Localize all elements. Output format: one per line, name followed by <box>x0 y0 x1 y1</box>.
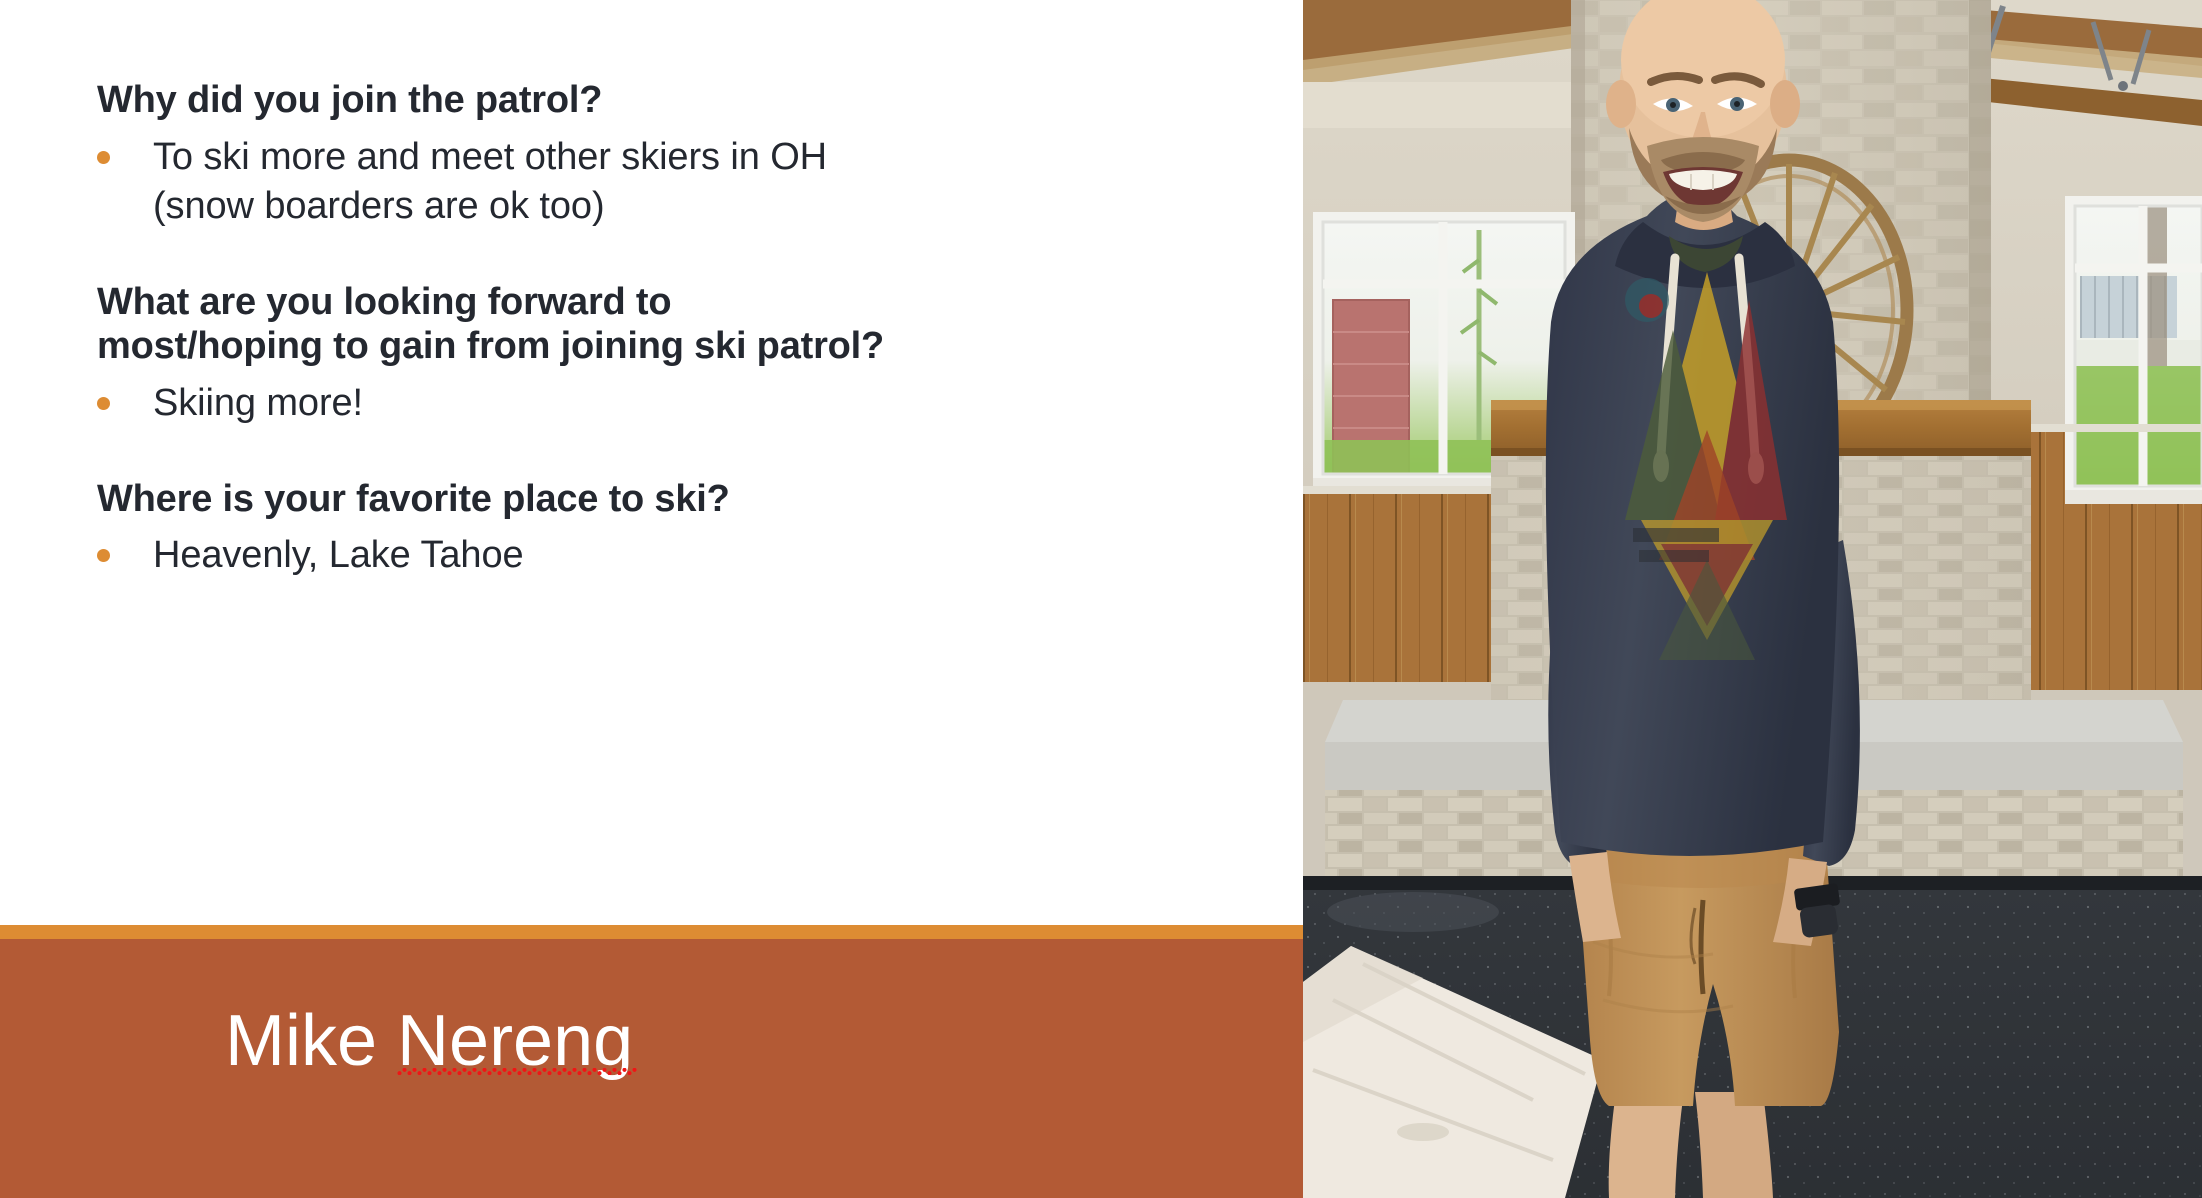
bullet-item-3-1: Heavenly, Lake Tahoe <box>97 531 1257 580</box>
photo-illustration <box>1303 0 2202 1198</box>
presenter-name-last: Nereng <box>397 1005 633 1077</box>
accent-strip <box>0 925 1303 939</box>
slide: Why did you join the patrol? To ski more… <box>0 0 2202 1198</box>
bullet-text-2-1: Skiing more! <box>153 379 363 428</box>
bullet-dot-icon <box>97 397 110 410</box>
bullet-item-1-1: To ski more and meet other skiers in OH … <box>97 133 1257 232</box>
bullet-text-3-1: Heavenly, Lake Tahoe <box>153 531 524 580</box>
qa-block-3: Where is your favorite place to ski? Hea… <box>97 477 1257 581</box>
presenter-photo <box>1303 0 2202 1198</box>
question-heading-3: Where is your favorite place to ski? <box>97 477 1257 522</box>
presenter-name-first: Mike <box>225 1001 397 1081</box>
question-heading-1: Why did you join the patrol? <box>97 78 1257 123</box>
qa-block-1: Why did you join the patrol? To ski more… <box>97 78 1257 232</box>
slide-content: Why did you join the patrol? To ski more… <box>97 78 1257 581</box>
question-heading-2: What are you looking forward to most/hop… <box>97 280 1257 370</box>
qa-block-2: What are you looking forward to most/hop… <box>97 280 1257 429</box>
name-banner <box>0 939 1303 1198</box>
bullet-dot-icon <box>97 549 110 562</box>
bullet-dot-icon <box>97 151 110 164</box>
presenter-name: Mike Nereng <box>225 1005 633 1077</box>
bullet-text-1-1: To ski more and meet other skiers in OH … <box>153 133 827 232</box>
bullet-item-2-1: Skiing more! <box>97 379 1257 428</box>
window-right <box>2065 196 2202 504</box>
